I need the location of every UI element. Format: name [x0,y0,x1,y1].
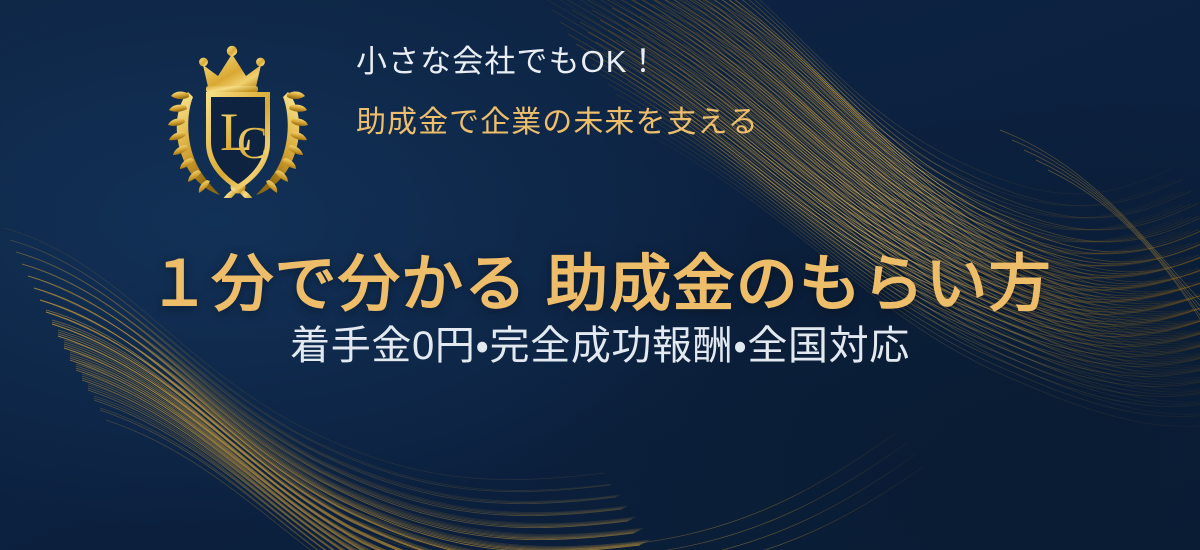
main-headline: １分で分かる 助成金のもらい方 [0,248,1200,321]
tagline-block: 小さな会社でもOK！ 助成金で企業の未来を支える [356,44,1056,140]
lc-crest-logo: L C [162,40,314,198]
subtitle: 着手金0円・完全成功報酬・全国対応 [0,322,1200,370]
hero-banner: L C 小さな会社でもOK！ 助成金で企業の未来を支える １分で分かる 助成金の… [0,0,1200,550]
gold-wave-bottom-left-tail [330,430,924,550]
crown-icon [199,46,265,93]
tagline-secondary: 助成金で企業の未来を支える [356,106,1056,141]
tagline-primary: 小さな会社でもOK！ [356,44,1056,80]
svg-text:C: C [237,117,268,168]
